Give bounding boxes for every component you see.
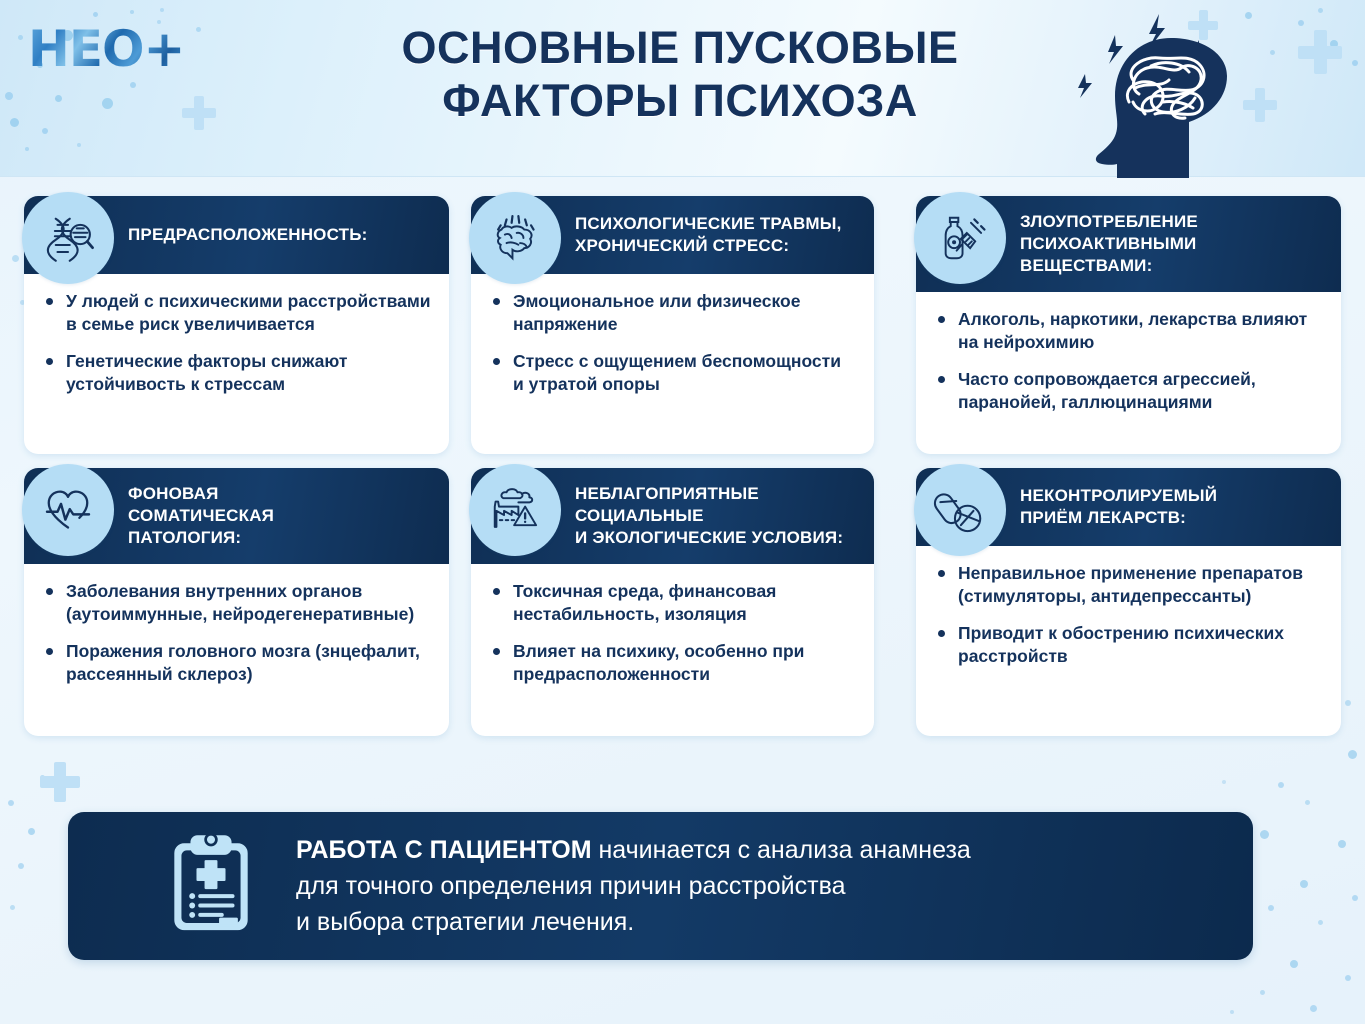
bullet-list: Токсичная среда, финансовая нестабильнос…: [487, 580, 856, 686]
page-title-line-2: ФАКТОРЫ ПСИХОЗА: [330, 75, 1030, 128]
logo-text: НЕО+: [28, 24, 184, 74]
card-header: ЗЛОУПОТРЕБЛЕНИЕ ПСИХОАКТИВНЫМИ ВЕЩЕСТВАМ…: [916, 196, 1341, 292]
list-item: Заболевания внутренних органов (аутоимму…: [40, 580, 431, 626]
card-title: ПРЕДРАСПОЛОЖЕННОСТЬ:: [128, 224, 368, 246]
bottle-syringe-icon: [914, 192, 1006, 284]
list-item: Часто сопровождается агрессией, паранойе…: [932, 368, 1323, 414]
card-title: НЕКОНТРОЛИРУЕМЫЙ ПРИЁМ ЛЕКАРСТВ:: [1020, 485, 1217, 529]
bullet-list: Алкоголь, наркотики, лекарства влияют на…: [932, 308, 1323, 414]
factory-warning-icon: [469, 464, 561, 556]
page-title-line-1: ОСНОВНЫЕ ПУСКОВЫЕ: [330, 22, 1030, 75]
summary-line-3: и выбора стратегии лечения.: [296, 904, 971, 940]
bullet-list: У людей с психическими расстройствами в …: [40, 290, 431, 396]
brand-logo[interactable]: НЕО+: [28, 18, 198, 80]
bullet-list: Заболевания внутренних органов (аутоимму…: [40, 580, 431, 686]
clipboard-medical-icon: [168, 834, 254, 939]
card-header: ПРЕДРАСПОЛОЖЕННОСТЬ:: [24, 196, 449, 274]
card-header: ПСИХОЛОГИЧЕСКИЕ ТРАВМЫ, ХРОНИЧЕСКИЙ СТРЕ…: [471, 196, 874, 274]
card-body: Токсичная среда, финансовая нестабильнос…: [471, 564, 874, 704]
list-item: Приводит к обострению психических расстр…: [932, 622, 1323, 668]
pills-icon: [914, 464, 1006, 556]
summary-lead: РАБОТА С ПАЦИЕНТОМ: [296, 836, 592, 864]
dna-magnifier-icon: [22, 192, 114, 284]
stressed-brain-icon: [469, 192, 561, 284]
factor-card-predisposition[interactable]: ПРЕДРАСПОЛОЖЕННОСТЬ: У людей с психическ…: [24, 196, 449, 454]
list-item: Генетические факторы снижают устойчивост…: [40, 350, 431, 396]
bullet-list: Эмоциональное или физическое напряжение …: [487, 290, 856, 396]
summary-rest: начинается с анализа анамнеза: [592, 836, 971, 864]
summary-text: РАБОТА С ПАЦИЕНТОМ начинается с анализа …: [296, 832, 971, 940]
card-header: НЕКОНТРОЛИРУЕМЫЙ ПРИЁМ ЛЕКАРСТВ:: [916, 468, 1341, 546]
summary-banner: РАБОТА С ПАЦИЕНТОМ начинается с анализа …: [68, 812, 1253, 960]
card-title: ФОНОВАЯ СОМАТИЧЕСКАЯ ПАТОЛОГИЯ:: [128, 483, 274, 548]
summary-line-1: РАБОТА С ПАЦИЕНТОМ начинается с анализа …: [296, 832, 971, 868]
list-item: Алкоголь, наркотики, лекарства влияют на…: [932, 308, 1323, 354]
card-body: Эмоциональное или физическое напряжение …: [471, 274, 874, 414]
factor-card-psychological-trauma[interactable]: ПСИХОЛОГИЧЕСКИЕ ТРАВМЫ, ХРОНИЧЕСКИЙ СТРЕ…: [471, 196, 874, 454]
card-title: ПСИХОЛОГИЧЕСКИЕ ТРАВМЫ, ХРОНИЧЕСКИЙ СТРЕ…: [575, 213, 842, 257]
card-body: Заболевания внутренних органов (аутоимму…: [24, 564, 449, 704]
card-body: Алкоголь, наркотики, лекарства влияют на…: [916, 292, 1341, 432]
factor-card-substance-abuse[interactable]: ЗЛОУПОТРЕБЛЕНИЕ ПСИХОАКТИВНЫМИ ВЕЩЕСТВАМ…: [916, 196, 1341, 454]
card-header: ФОНОВАЯ СОМАТИЧЕСКАЯ ПАТОЛОГИЯ:: [24, 468, 449, 564]
card-title: ЗЛОУПОТРЕБЛЕНИЕ ПСИХОАКТИВНЫМИ ВЕЩЕСТВАМ…: [1020, 211, 1198, 276]
card-body: У людей с психическими расстройствами в …: [24, 274, 449, 414]
bullet-list: Неправильное применение препаратов (стим…: [932, 562, 1323, 668]
list-item: Поражения головного мозга (знцефалит, ра…: [40, 640, 431, 686]
card-body: Неправильное применение препаратов (стим…: [916, 546, 1341, 686]
page-title: ОСНОВНЫЕ ПУСКОВЫЕ ФАКТОРЫ ПСИХОЗА: [330, 22, 1030, 127]
factor-card-somatic-pathology[interactable]: ФОНОВАЯ СОМАТИЧЕСКАЯ ПАТОЛОГИЯ: Заболева…: [24, 468, 449, 736]
card-title: НЕБЛАГОПРИЯТНЫЕ СОЦИАЛЬНЫЕ И ЭКОЛОГИЧЕСК…: [575, 483, 843, 548]
head-with-tangled-brain-icon: [1063, 2, 1283, 178]
infographic-page: НЕО+ ОСНОВНЫЕ ПУСКОВЫЕ ФАКТОРЫ ПСИХОЗА: [0, 0, 1365, 1024]
heart-pulse-icon: [22, 464, 114, 556]
card-header: НЕБЛАГОПРИЯТНЫЕ СОЦИАЛЬНЫЕ И ЭКОЛОГИЧЕСК…: [471, 468, 874, 564]
factor-card-uncontrolled-medication[interactable]: НЕКОНТРОЛИРУЕМЫЙ ПРИЁМ ЛЕКАРСТВ: Неправи…: [916, 468, 1341, 736]
list-item: Влияет на психику, особенно при предрасп…: [487, 640, 856, 686]
factors-grid: ПРЕДРАСПОЛОЖЕННОСТЬ: У людей с психическ…: [24, 196, 1341, 736]
factor-card-social-ecological[interactable]: НЕБЛАГОПРИЯТНЫЕ СОЦИАЛЬНЫЕ И ЭКОЛОГИЧЕСК…: [471, 468, 874, 736]
summary-line-2: для точного определения причин расстройс…: [296, 868, 971, 904]
list-item: Неправильное применение препаратов (стим…: [932, 562, 1323, 608]
list-item: Эмоциональное или физическое напряжение: [487, 290, 856, 336]
list-item: Стресс с ощущением беспомощности и утрат…: [487, 350, 856, 396]
list-item: Токсичная среда, финансовая нестабильнос…: [487, 580, 856, 626]
list-item: У людей с психическими расстройствами в …: [40, 290, 431, 336]
